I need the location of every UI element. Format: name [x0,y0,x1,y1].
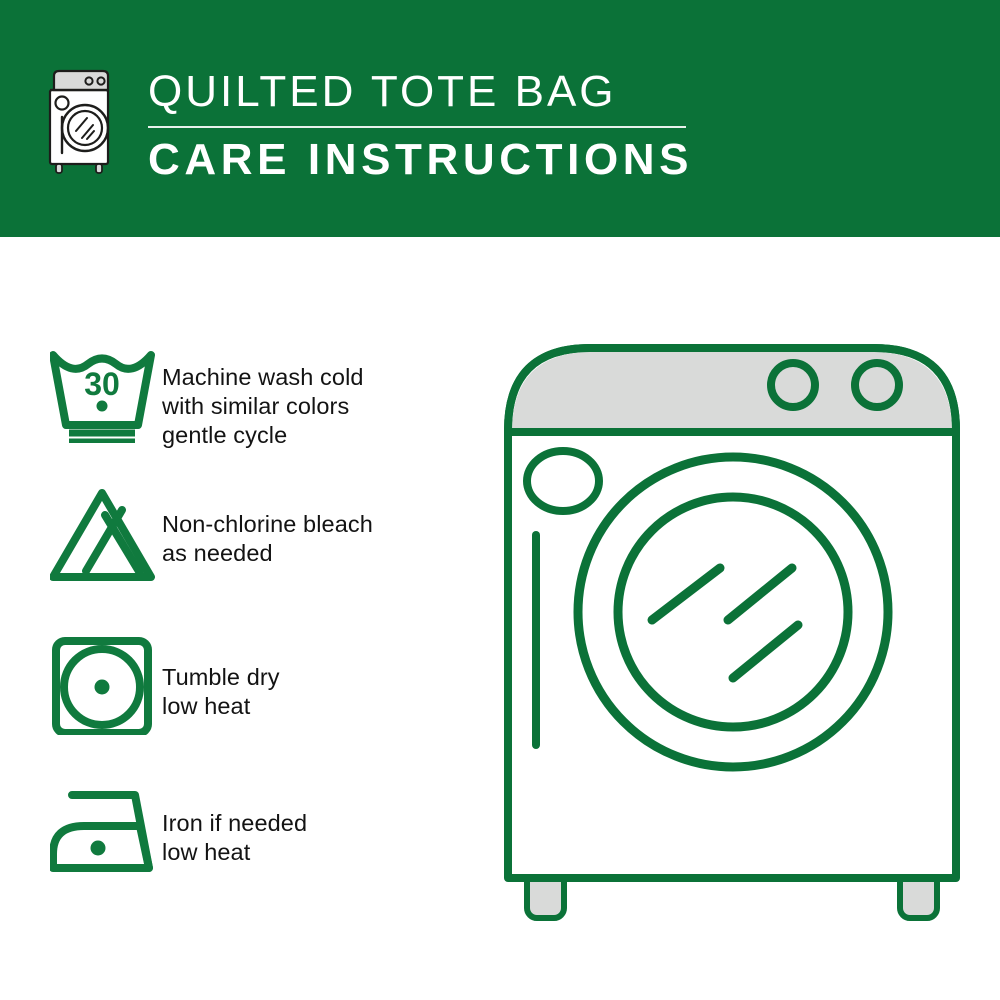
care-row-wash: 30 Machine wash cold with similar colors… [50,343,470,450]
tumble-dry-low-heat-icon [50,635,160,735]
wash-temperature-label: 30 [84,366,120,402]
care-instructions-page: QUILTED TOTE BAG CARE INSTRUCTIONS 30 [0,0,1000,1000]
care-text-tumble-dry: Tumble dry low heat [160,635,470,721]
care-text-wash: Machine wash cold with similar colors ge… [160,343,470,450]
machine-wash-30-gentle-icon: 30 [50,343,160,443]
page-title: QUILTED TOTE BAG [146,66,706,118]
header-title-block: QUILTED TOTE BAG CARE INSTRUCTIONS [146,66,706,186]
care-text-bleach: Non-chlorine bleach as needed [160,485,470,568]
care-text-iron: Iron if needed low heat [160,782,470,867]
care-row-tumble-dry: Tumble dry low heat [50,635,470,735]
front-load-washing-machine-illustration [480,320,980,940]
washing-machine-icon [46,68,114,176]
care-instruction-list: 30 Machine wash cold with similar colors… [0,237,470,1000]
care-row-bleach: Non-chlorine bleach as needed [50,485,470,585]
title-divider [148,126,686,128]
iron-low-heat-icon [50,782,160,882]
header-banner: QUILTED TOTE BAG CARE INSTRUCTIONS [0,0,1000,237]
care-row-iron: Iron if needed low heat [50,782,470,882]
page-subtitle: CARE INSTRUCTIONS [146,134,706,186]
non-chlorine-bleach-icon [50,485,160,585]
